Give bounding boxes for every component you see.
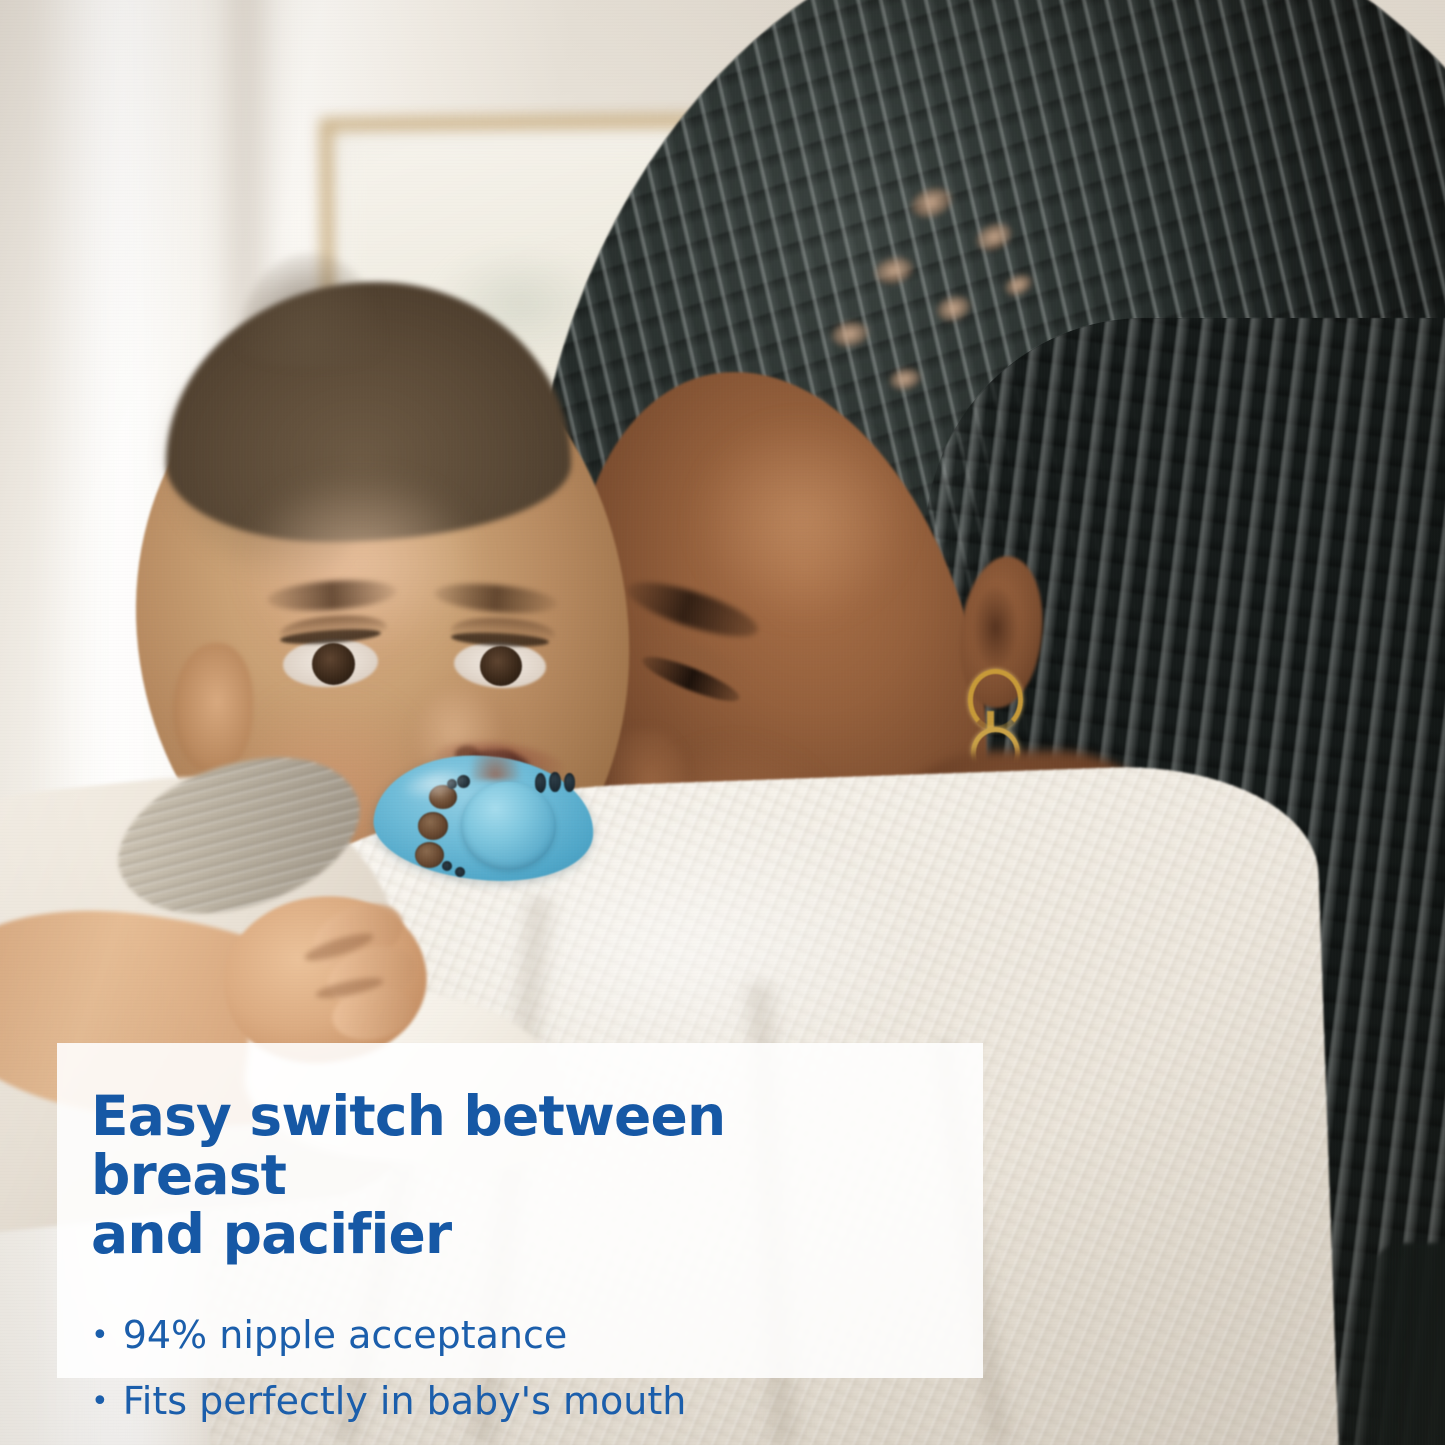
pacifier-teat [461, 782, 556, 870]
caption-bullet-item: • Fits perfectly in baby's mouth [91, 1382, 933, 1420]
bullet-dot-icon: • [91, 1387, 109, 1417]
bullet-dot-icon: • [91, 1321, 109, 1351]
product-feature-image: Easy switch between breast and pacifier … [0, 0, 1445, 1445]
pacifier-vent-hole-small [549, 772, 561, 792]
caption-bullet-list: • 94% nipple acceptance • Fits perfectly… [91, 1316, 933, 1420]
mother-forehead-highlight [694, 419, 911, 621]
gold-hoop-earring-icon [968, 669, 1023, 731]
pacifier-vent-hole-small [564, 773, 576, 792]
pacifier-shield-notch [471, 743, 520, 781]
baby-ear [173, 643, 252, 773]
pacifier-vent-hole [415, 842, 444, 868]
caption-bullet-text: Fits perfectly in baby's mouth [123, 1382, 687, 1420]
caption-panel: Easy switch between breast and pacifier … [57, 1043, 983, 1378]
caption-bullet-text: 94% nipple acceptance [123, 1316, 568, 1354]
caption-bullet-item: • 94% nipple acceptance [91, 1316, 933, 1354]
pacifier-vent-hole [418, 812, 448, 839]
baby-iris-right [480, 646, 522, 686]
baby-iris-left [312, 643, 355, 685]
mother-ear-inner [974, 587, 1017, 668]
caption-title: Easy switch between breast and pacifier [91, 1087, 933, 1264]
